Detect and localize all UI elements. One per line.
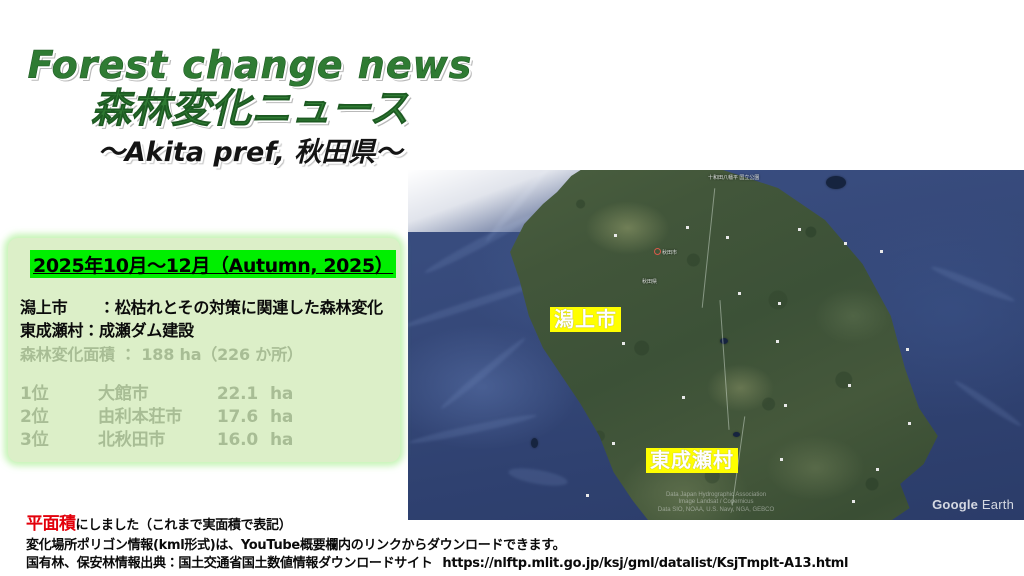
title-english: Forest change news [0,46,500,84]
footer-source-url[interactable]: https://nlftp.mlit.go.jp/ksj/gml/datalis… [432,556,848,571]
map-marker [876,468,879,471]
ranking-unit: ha [258,407,293,427]
footer-red-keyword: 平面積 [26,514,76,534]
map-marker [726,236,729,239]
map-marker [880,250,883,253]
info-panel: 2025年10月〜12月（Autumn, 2025） 潟上市 ：松枯れとその対策… [8,238,400,462]
map-marker [852,500,855,503]
map-marker [798,228,801,231]
footer-line-2: 変化場所ポリゴン情報(kml形式)は、YouTube概要欄内のリンクからダウンロ… [26,537,848,556]
map-attribution-line-1: Data Japan Hydrographic Association [658,492,774,500]
ranking-city: 大館市 [98,379,206,404]
map-marker [778,302,781,305]
map-marker [738,292,741,295]
ranking-value: 17.6 [206,407,258,427]
map-marker [844,242,847,245]
map-attribution: Data Japan Hydrographic Association Imag… [658,492,774,515]
map-marker [776,340,779,343]
google-earth-watermark-light: Earth [982,497,1014,512]
footer-line-1: 平面積にしました（これまで実面積で表記） [26,512,848,537]
google-earth-watermark-bold: Google [932,497,978,512]
map-marker [908,422,911,425]
ranking-value: 16.0 [206,430,258,450]
date-range-badge: 2025年10月〜12月（Autumn, 2025） [30,250,396,278]
ranking-city: 北秋田市 [98,425,206,450]
map-marker [612,442,615,445]
map-marker [784,404,787,407]
note-line-kamikita: 潟上市 ：松枯れとその対策に関連した森林変化 [20,294,383,318]
map-micro-label: 秋田県 [642,278,657,285]
map-marker [848,384,851,387]
ranking-value: 22.1 [206,384,258,404]
footer-notes: 平面積にしました（これまで実面積で表記） 変化場所ポリゴン情報(kml形式)は、… [26,512,848,574]
google-earth-watermark: Google Earth [932,497,1014,512]
map-micro-label: 十和田八幡平 国立公園 [708,174,759,181]
map-marker [682,396,685,399]
footer-source-text: 国有林、保安林情報出典：国土交通省国土数値情報ダウンロードサイト [26,556,432,571]
map-label-kamikita-city: 潟上市 [550,307,621,332]
map-marker [906,348,909,351]
map-marker [614,234,617,237]
ranking-city: 由利本荘市 [98,402,206,427]
ranking-rank: 3位 [20,425,98,450]
ranking-rank: 2位 [20,402,98,427]
ranking-row: 3位北秋田市16.0ha [20,425,293,450]
title-block: Forest change news 森林変化ニュース 〜Akita pref,… [0,46,500,168]
satellite-map[interactable]: 秋田市 秋田県 十和田八幡平 国立公園 潟上市 東成瀬村 Data Japan … [408,170,1024,520]
map-marker [780,458,783,461]
city-marker-akita [654,248,661,255]
footer-line-3: 国有林、保安林情報出典：国土交通省国土数値情報ダウンロードサイトhttps://… [26,555,848,574]
ranking-unit: ha [258,384,293,404]
title-subtitle: 〜Akita pref, 秋田県〜 [0,137,500,168]
island-tobishima [531,438,538,448]
ranking-rank: 1位 [20,379,98,404]
total-change-area: 森林変化面積 ： 188 ha（226 か所） [20,341,303,365]
map-micro-label: 秋田市 [662,249,677,256]
map-label-higashinaruse-village: 東成瀬村 [646,448,738,473]
footer-line-1-rest: にしました（これまで実面積で表記） [76,518,292,533]
lake-towada [826,176,846,189]
map-marker [586,494,589,497]
map-attribution-line-2: Image Landsat / Copernicus [658,499,774,507]
ranking-unit: ha [258,430,293,450]
map-marker [622,342,625,345]
map-marker [686,226,689,229]
lake-small [733,432,740,437]
ranking-row: 1位大館市22.1ha [20,379,293,404]
note-line-higashinaruse: 東成瀬村：成瀬ダム建設 [20,317,194,341]
title-japanese: 森林変化ニュース [0,86,500,133]
ranking-row: 2位由利本荘市17.6ha [20,402,293,427]
